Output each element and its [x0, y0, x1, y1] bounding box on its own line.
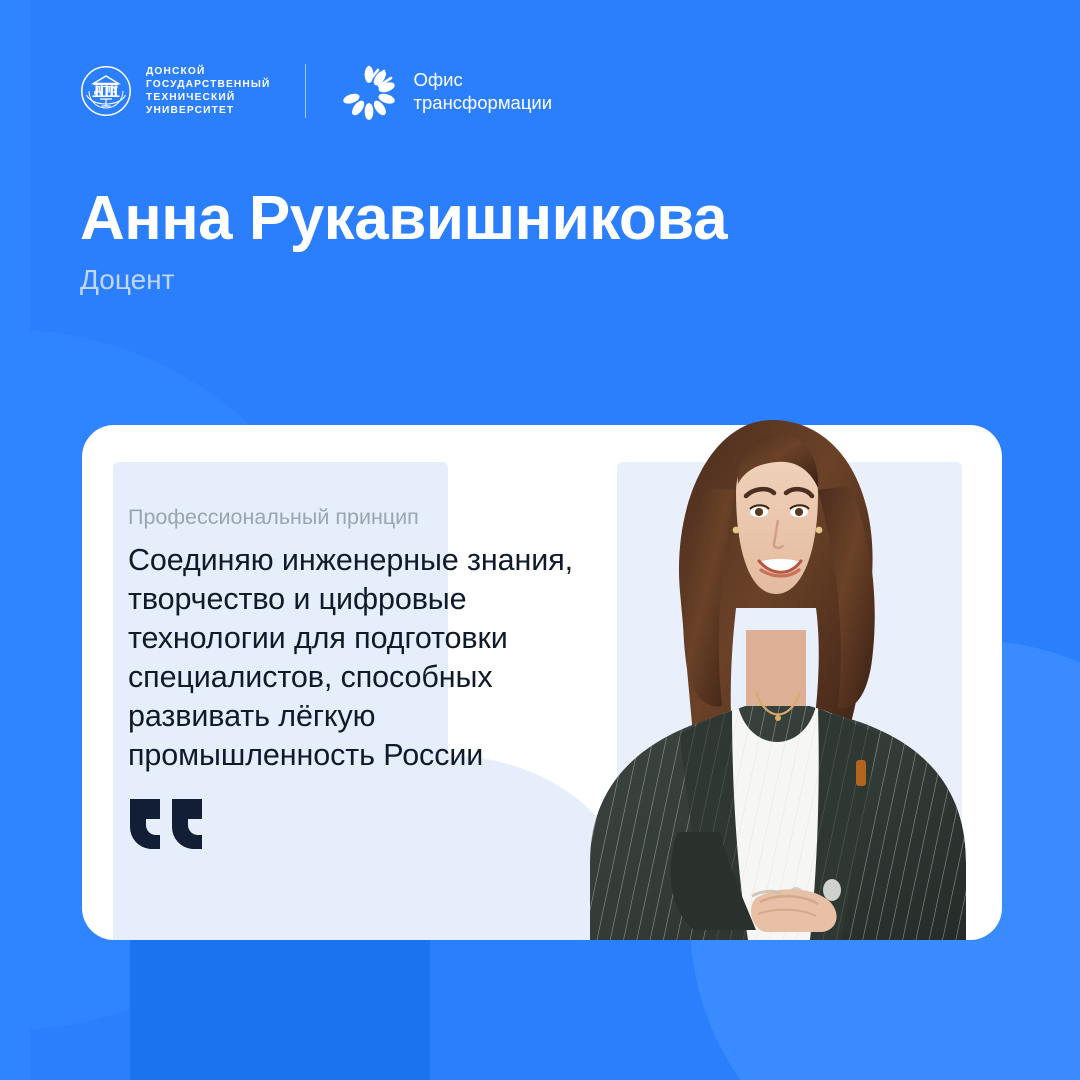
double-quote-icon	[128, 797, 204, 856]
university-logo-text: ДОНСКОЙ ГОСУДАРСТВЕННЫЙ ТЕХНИЧЕСКИЙ УНИВ…	[146, 65, 271, 118]
university-line-4: УНИВЕРСИТЕТ	[146, 104, 271, 117]
office-line-1: Офис	[414, 68, 553, 91]
university-line-1: ДОНСКОЙ	[146, 65, 271, 78]
person-role: Доцент	[80, 265, 727, 296]
poster-canvas: ДГТУ ДОНСКОЙ ГОСУДАРСТВЕННЫЙ ТЕХНИЧЕСКИЙ…	[0, 0, 1080, 1080]
office-logo[interactable]: Офис трансформации	[340, 62, 553, 120]
sunburst-icon	[340, 62, 398, 120]
header-logos: ДГТУ ДОНСКОЙ ГОСУДАРСТВЕННЫЙ ТЕХНИЧЕСКИЙ…	[80, 62, 552, 120]
office-line-2: трансформации	[414, 91, 553, 114]
university-line-3: ТЕХНИЧЕСКИЙ	[146, 91, 271, 104]
svg-text:ДГТУ: ДГТУ	[94, 85, 118, 96]
portrait-photo	[560, 362, 990, 940]
dstu-seal-icon: ДГТУ	[80, 65, 132, 117]
logo-divider	[305, 64, 306, 118]
title-block: Анна Рукавишникова Доцент	[80, 186, 727, 296]
university-line-2: ГОСУДАРСТВЕННЫЙ	[146, 78, 271, 91]
person-name: Анна Рукавишникова	[80, 186, 727, 251]
office-logo-text: Офис трансформации	[414, 68, 553, 114]
university-logo[interactable]: ДГТУ ДОНСКОЙ ГОСУДАРСТВЕННЫЙ ТЕХНИЧЕСКИЙ…	[80, 65, 271, 118]
